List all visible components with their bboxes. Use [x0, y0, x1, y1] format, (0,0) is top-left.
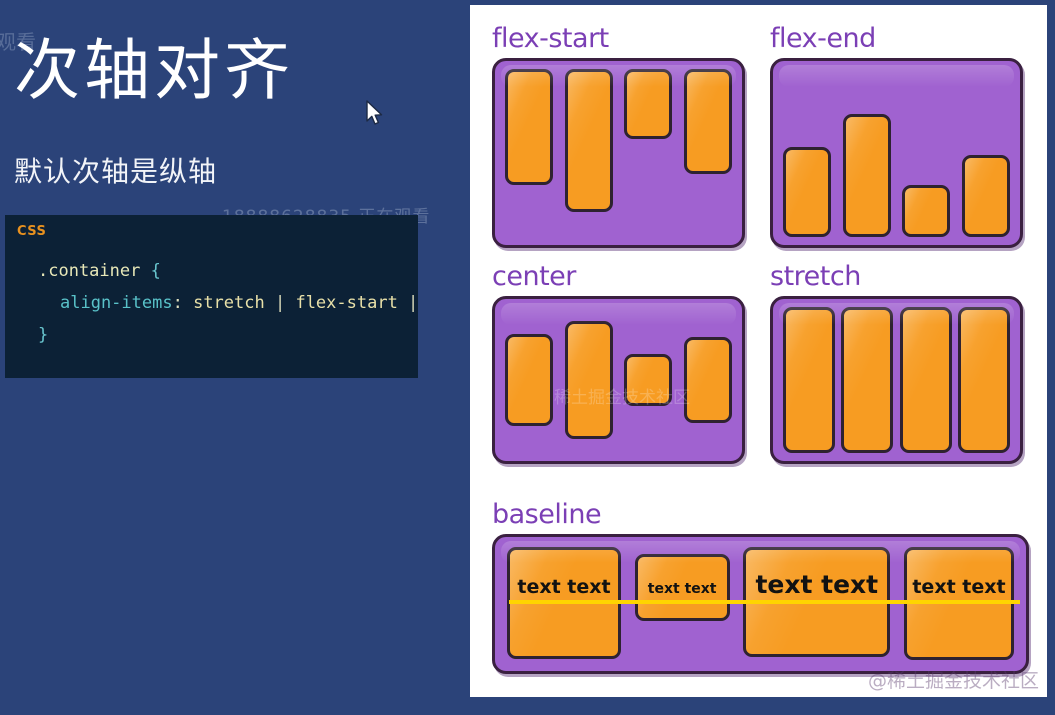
flex-item: [565, 69, 613, 212]
flex-item-text: text text: [507, 547, 621, 659]
flex-item: [962, 155, 1010, 237]
board-watermark-mid: 稀土掘金技术社区: [554, 383, 690, 408]
code-line-selector: .container {: [5, 255, 418, 287]
flex-item: [841, 307, 893, 453]
code-value-flex-start: flex-start: [295, 293, 397, 313]
flex-items-center: [505, 307, 732, 453]
cell-label-flex-end: flex-end: [770, 23, 1028, 54]
code-line-declaration: align-items: stretch | flex-start |: [5, 287, 418, 319]
flex-item-text-label: text text: [648, 581, 717, 597]
code-pipe-2: |: [398, 293, 418, 313]
flex-container-baseline: text text text text text text text text: [492, 534, 1029, 674]
code-value-stretch: stretch: [193, 293, 265, 313]
flex-item: [505, 334, 553, 426]
diagram-cell-center: center 稀土掘金技术社区: [492, 261, 750, 464]
flex-item-text: text text: [904, 547, 1014, 660]
code-body: .container { align-items: stretch | flex…: [5, 255, 418, 351]
code-close-brace: }: [38, 325, 48, 345]
cell-label-center: center: [492, 261, 750, 292]
diagram-cell-baseline: baseline text text text text text text t…: [492, 499, 1032, 674]
code-line-close: }: [5, 319, 418, 351]
cell-label-flex-start: flex-start: [492, 23, 750, 54]
page-subtitle: 默认次轴是纵轴: [14, 150, 217, 190]
flex-item: [624, 69, 672, 139]
flex-item: [684, 337, 732, 423]
flex-item-text: text text: [635, 554, 730, 621]
slide-text-column: 观看 次轴对齐 默认次轴是纵轴 18888628835 正在观看 CSS .co…: [0, 0, 470, 715]
flex-item: [783, 147, 831, 237]
flex-item-text-label: text text: [755, 570, 878, 599]
flex-item: [843, 114, 891, 237]
flex-items-stretch: [783, 307, 1010, 453]
flex-container-stretch: [770, 296, 1023, 464]
flex-item: [684, 69, 732, 174]
code-pipe-1: |: [265, 293, 296, 313]
code-property-token: align-items: [60, 293, 173, 313]
flex-item: [565, 321, 613, 439]
mouse-cursor-icon: [366, 100, 384, 126]
diagram-cell-flex-end: flex-end: [770, 23, 1028, 248]
flex-item-text-label: text text: [517, 576, 610, 598]
flex-item-text: text text: [743, 547, 890, 657]
flex-items-flex-start: [505, 69, 732, 237]
code-language-label: CSS: [17, 224, 46, 239]
cell-label-baseline: baseline: [492, 499, 1032, 530]
flex-items-flex-end: [783, 69, 1010, 237]
css-code-block: CSS .container { align-items: stretch | …: [5, 215, 418, 378]
diagram-cell-flex-start: flex-start: [492, 23, 750, 248]
flex-container-flex-start: [492, 58, 745, 248]
code-selector-token: .container: [38, 261, 140, 281]
flex-item: [505, 69, 553, 185]
diagram-cell-stretch: stretch: [770, 261, 1028, 464]
code-colon-token: :: [173, 293, 193, 313]
flexbox-diagram-board: flex-start flex-end: [470, 5, 1047, 697]
flex-item: [900, 307, 952, 453]
flex-container-flex-end: [770, 58, 1023, 248]
code-space: [140, 261, 150, 281]
code-open-brace: {: [151, 261, 161, 281]
board-watermark: @稀土掘金技术社区: [868, 666, 1039, 693]
flex-items-baseline: text text text text text text text text: [507, 547, 1014, 661]
page-title: 次轴对齐: [14, 36, 294, 105]
presentation-slide: 观看 次轴对齐 默认次轴是纵轴 18888628835 正在观看 CSS .co…: [0, 0, 1055, 715]
flex-item: [902, 185, 950, 237]
flex-item: [958, 307, 1010, 453]
flex-item-text-label: text text: [912, 576, 1005, 598]
flex-item: [783, 307, 835, 453]
cell-label-stretch: stretch: [770, 261, 1028, 292]
flex-container-center: [492, 296, 745, 464]
